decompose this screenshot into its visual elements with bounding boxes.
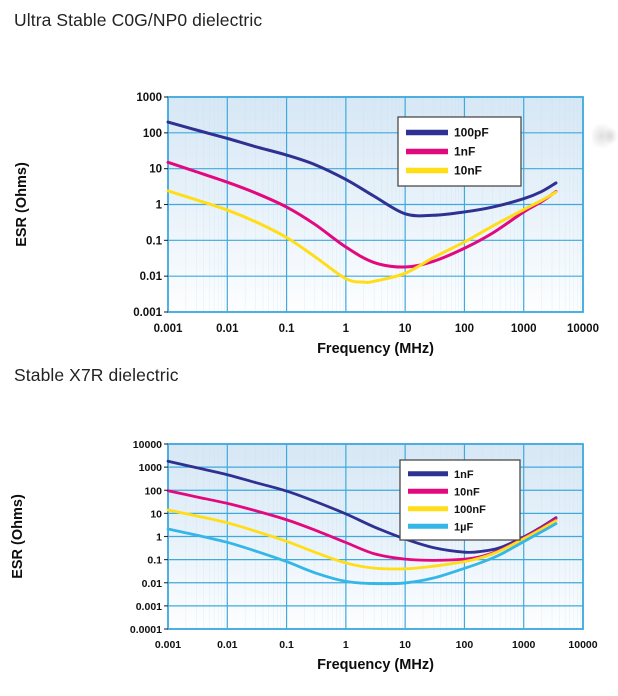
x-tick-label: 0.001	[154, 323, 183, 335]
x-tick-label: 0.1	[279, 639, 294, 651]
x-axis-title: Frequency (MHz)	[317, 657, 434, 673]
x-tick-label: 1	[343, 639, 349, 651]
y-tick-label: 1000	[139, 462, 163, 474]
y-tick-labels: 1000010001001010.10.010.0010.0001	[130, 439, 168, 636]
x-tick-label: 100	[455, 323, 474, 335]
y-tick-label: 10	[150, 508, 162, 520]
section-cog: Ultra Stable C0G/NP0 dielectric 0.0010.0…	[0, 0, 618, 361]
y-tick-label: 10000	[133, 439, 162, 451]
y-axis-title: ESR (Ohms)	[14, 162, 30, 247]
section-title-cog: Ultra Stable C0G/NP0 dielectric	[0, 0, 618, 31]
x-tick-label: 1000	[512, 639, 536, 651]
y-tick-label: 0.1	[147, 555, 162, 567]
y-tick-label: 0.001	[133, 307, 162, 319]
chart-container-cog: 0.0010.010.111010010001000010001001010.1…	[0, 31, 618, 361]
chart-container-x7r: 0.0010.010.11101001000100001000010001001…	[0, 386, 618, 696]
x-tick-label: 0.01	[216, 323, 239, 335]
legend-label: 10nF	[454, 164, 482, 178]
x-tick-label: 10000	[567, 323, 599, 335]
legend-label: 100nF	[454, 504, 486, 516]
y-tick-label: 0.01	[140, 271, 163, 283]
section-title-x7r: Stable X7R dielectric	[0, 355, 618, 386]
y-tick-label: 0.0001	[130, 624, 162, 636]
y-tick-label: 1	[156, 532, 162, 544]
chart-legend: 100pF1nF10nF	[398, 117, 521, 186]
y-axis-title: ESR (Ohms)	[10, 494, 26, 579]
y-tick-label: 0.001	[136, 601, 162, 613]
x-tick-label: 10	[399, 639, 411, 651]
y-tick-label: 1	[156, 200, 163, 212]
legend-label: 1µF	[454, 521, 473, 533]
legend-label: 1nF	[454, 145, 475, 159]
x-tick-label: 0.1	[279, 323, 296, 335]
x-tick-label: 10	[399, 323, 412, 335]
y-tick-labels: 10001001010.10.010.001	[133, 92, 168, 319]
x-tick-label: 100	[456, 639, 474, 651]
y-tick-label: 10	[149, 164, 162, 176]
legend-label: 100pF	[454, 126, 489, 140]
x-tick-label: 0.01	[217, 639, 238, 651]
x7r-esr-chart: 0.0010.010.11101001000100001000010001001…	[0, 386, 618, 696]
x-tick-labels: 0.0010.010.1110100100010000	[154, 323, 599, 335]
y-tick-label: 0.1	[146, 235, 163, 247]
legend-label: 10nF	[454, 486, 480, 498]
x-tick-label: 1	[343, 323, 350, 335]
x-tick-label: 1000	[511, 323, 537, 335]
x-tick-label: 10000	[568, 639, 597, 651]
chart-legend: 1nF10nF100nF1µF	[400, 460, 520, 540]
y-tick-label: 100	[143, 128, 162, 140]
section-x7r: Stable X7R dielectric 0.0010.010.1110100…	[0, 355, 618, 696]
y-tick-label: 100	[144, 485, 162, 497]
x-tick-labels: 0.0010.010.1110100100010000	[155, 639, 598, 651]
legend-label: 1nF	[454, 469, 474, 481]
y-tick-label: 1000	[136, 92, 162, 104]
y-tick-label: 0.01	[142, 578, 163, 590]
cog-esr-chart: 0.0010.010.111010010001000010001001010.1…	[0, 31, 618, 361]
x-tick-label: 0.001	[155, 639, 181, 651]
